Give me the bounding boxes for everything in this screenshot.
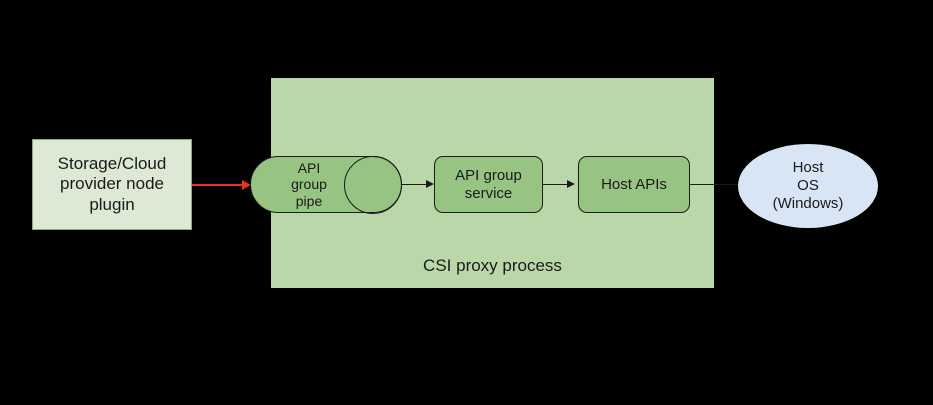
- connector-pipe-to-service: [402, 183, 438, 186]
- host-os-label: Host OS (Windows): [738, 144, 878, 228]
- host-apis-label: Host APIs: [579, 157, 689, 212]
- connector-line: [192, 184, 244, 186]
- arrowhead-icon: [426, 180, 434, 188]
- connector-line: [543, 184, 569, 185]
- node-plugin-label: Storage/Cloud provider node plugin: [33, 140, 191, 229]
- api-group-pipe-shape: API group pipe: [250, 156, 402, 213]
- storage-cloud-provider-node-plugin-box: Storage/Cloud provider node plugin: [32, 139, 192, 230]
- arrowhead-icon: [567, 180, 575, 188]
- api-group-service-box: API group service: [434, 156, 543, 213]
- connector-plugin-to-pipe: [192, 183, 256, 186]
- diagram-canvas: CSI proxy process Storage/Cloud provider…: [0, 0, 933, 405]
- pipe-cap-circle: [344, 156, 402, 214]
- connector-line: [402, 184, 428, 185]
- host-apis-box: Host APIs: [578, 156, 690, 213]
- host-os-ellipse: Host OS (Windows): [738, 144, 878, 228]
- api-group-service-label: API group service: [435, 157, 542, 212]
- connector-service-to-host-apis: [543, 183, 583, 186]
